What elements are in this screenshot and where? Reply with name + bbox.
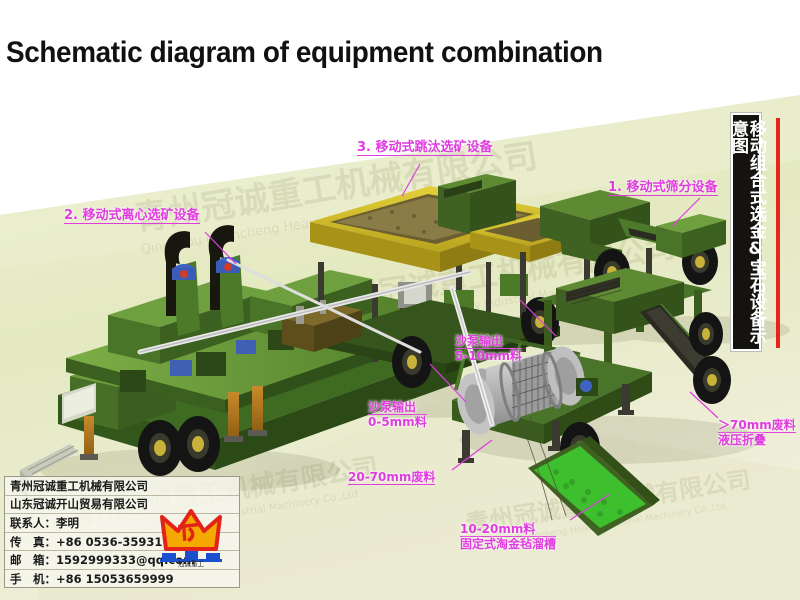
label-waste-over-70: ＞70mm废料 液压折叠 [718,418,796,447]
label-waste-over-70-line1: ＞70mm废料 [718,418,796,433]
info-row-1-value: 山东冠诚开山贸易有限公司 [10,496,148,512]
info-row-5-value: ：+86 15053659999 [45,571,174,587]
info-row-2-value: ：李明 [45,515,80,531]
label-fixed-sluice-line2: 固定式淘金毡溜槽 [460,537,556,551]
label-equipment-2: 2. 移动式离心选矿设备 [64,208,200,224]
logo-text-cn: 冠诚重工 [178,559,205,567]
label-pump-output-5-10: 沙泵输出 5-10mm料 [455,334,522,363]
label-pump-output-0-5-line2: 0-5mm料 [368,415,427,429]
label-pump-output-0-5-line1: 沙泵输出 [368,400,427,415]
info-row-3-key: 传 真 [10,534,45,550]
schematic-canvas: 青州冠诚重工机械有限公司 Qingzhou Guancheng Heavy In… [0,0,800,600]
label-waste-over-70-line2: 液压折叠 [718,433,796,447]
info-row-5-key: 手 机 [10,571,45,587]
page-title: Schematic diagram of equipment combinati… [6,36,603,70]
info-row: 手 机 ：+86 15053659999 [5,570,239,589]
vertical-title-panel: 移动组合式选金&宝石设备示意图 [731,113,761,351]
label-pump-output-5-10-line2: 5-10mm料 [455,349,522,363]
red-accent-bar [776,118,780,348]
label-pump-output-5-10-line1: 沙泵输出 [455,334,522,349]
equipment-trommel-plant [452,268,731,536]
label-fixed-sluice: 10-20mm料 固定式淘金毡溜槽 [460,522,556,551]
vertical-title-text: 移动组合式选金&宝石设备示意图 [728,120,764,349]
crown-logo: 冠诚重工 [158,505,240,567]
info-row-0-value: 青州冠诚重工机械有限公司 [10,478,148,494]
label-equipment-1: 1. 移动式筛分设备 [608,180,718,196]
info-row: 青州冠诚重工机械有限公司 [5,477,239,496]
label-equipment-3: 3. 移动式跳汰选矿设备 [357,140,493,156]
info-row-4-key: 邮 箱 [10,552,45,568]
label-waste-20-70: 20-70mm废料 [348,470,435,485]
label-fixed-sluice-line1: 10-20mm料 [460,522,556,537]
info-row-2-key: 联系人 [10,515,45,531]
label-pump-output-0-5: 沙泵输出 0-5mm料 [368,400,427,429]
